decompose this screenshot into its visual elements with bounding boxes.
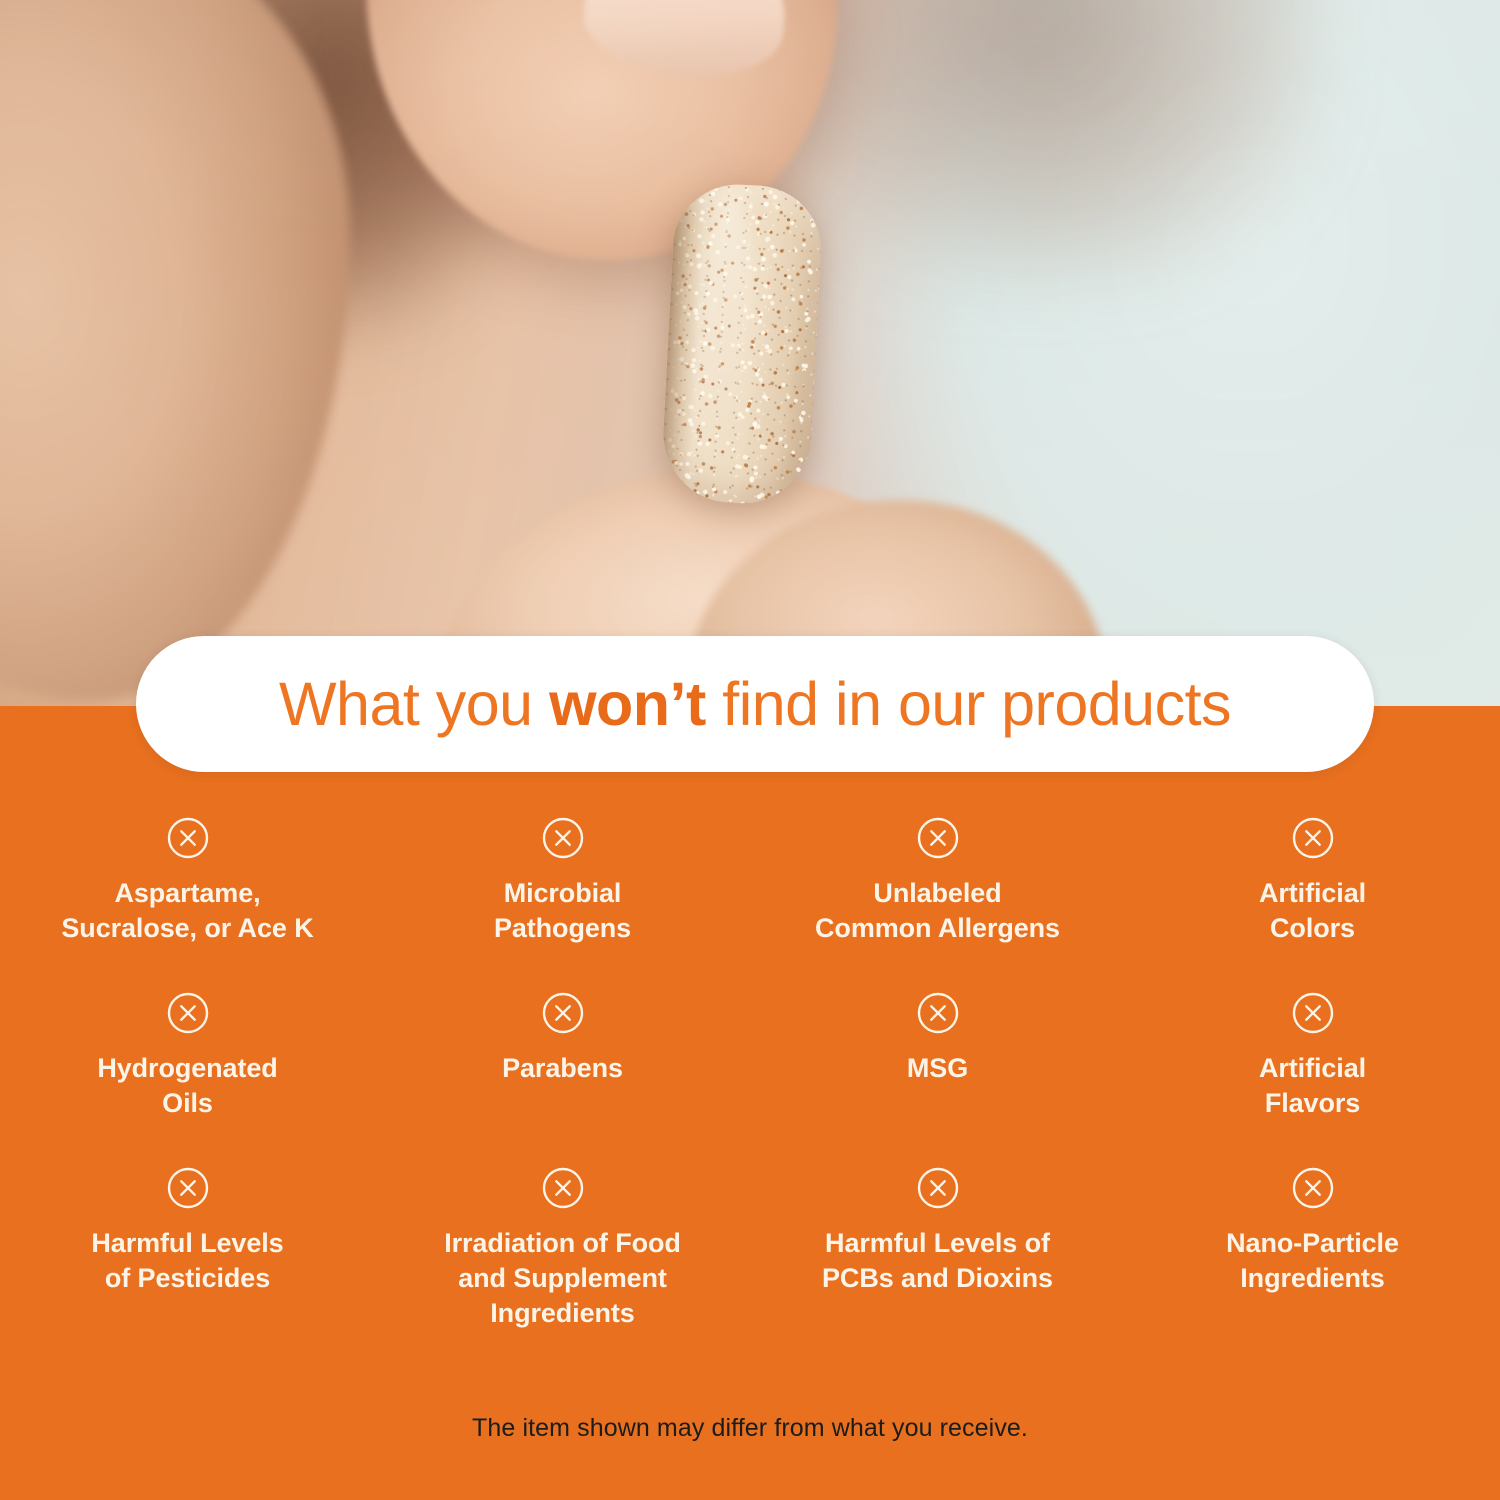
claim-item: Unlabeled Common Allergens	[750, 816, 1125, 991]
x-circle-icon	[916, 991, 960, 1035]
x-circle-icon	[541, 991, 585, 1035]
claim-item: MSG	[750, 991, 1125, 1166]
x-circle-icon	[1291, 1166, 1335, 1210]
claim-item: Harmful Levels of Pesticides	[0, 1166, 375, 1341]
product-photo	[0, 0, 1500, 706]
claim-label: Microbial Pathogens	[494, 876, 631, 946]
title-prefix: What you	[279, 670, 549, 738]
x-circle-icon	[1291, 991, 1335, 1035]
x-circle-icon	[916, 816, 960, 860]
page-title: What you won’t find in our products	[279, 674, 1231, 735]
claim-label: Harmful Levels of PCBs and Dioxins	[822, 1226, 1053, 1296]
claim-item: Parabens	[375, 991, 750, 1166]
x-circle-icon	[166, 816, 210, 860]
claim-item: Microbial Pathogens	[375, 816, 750, 991]
claim-item: Artificial Flavors	[1125, 991, 1500, 1166]
claim-label: Harmful Levels of Pesticides	[91, 1226, 283, 1296]
claim-label: Parabens	[502, 1051, 623, 1086]
claim-label: Unlabeled Common Allergens	[815, 876, 1060, 946]
claim-item: Artificial Colors	[1125, 816, 1500, 991]
claim-label: Irradiation of Food and Supplement Ingre…	[444, 1226, 681, 1331]
claim-item: Hydrogenated Oils	[0, 991, 375, 1166]
claim-label: Artificial Colors	[1259, 876, 1366, 946]
claim-label: Artificial Flavors	[1259, 1051, 1366, 1121]
disclaimer-text: The item shown may differ from what you …	[0, 1414, 1500, 1443]
claims-panel: Aspartame, Sucralose, or Ace K Microbial…	[0, 706, 1500, 1500]
x-circle-icon	[916, 1166, 960, 1210]
claim-label: Aspartame, Sucralose, or Ace K	[61, 876, 313, 946]
claim-label: MSG	[907, 1051, 968, 1086]
title-card: What you won’t find in our products	[136, 636, 1374, 772]
x-circle-icon	[166, 991, 210, 1035]
title-emphasis: won’t	[549, 670, 706, 738]
x-circle-icon	[541, 1166, 585, 1210]
title-suffix: find in our products	[706, 670, 1231, 738]
x-circle-icon	[1291, 816, 1335, 860]
claim-label: Nano-Particle Ingredients	[1226, 1226, 1399, 1296]
claims-grid: Aspartame, Sucralose, or Ace K Microbial…	[0, 816, 1500, 1341]
promo-graphic: Aspartame, Sucralose, or Ace K Microbial…	[0, 0, 1500, 1500]
claim-item: Harmful Levels of PCBs and Dioxins	[750, 1166, 1125, 1341]
photo-blur-shadow-mid	[760, 0, 1320, 280]
claim-label: Hydrogenated Oils	[97, 1051, 277, 1121]
x-circle-icon	[541, 816, 585, 860]
claim-item: Nano-Particle Ingredients	[1125, 1166, 1500, 1341]
claim-item: Irradiation of Food and Supplement Ingre…	[375, 1166, 750, 1341]
claim-item: Aspartame, Sucralose, or Ace K	[0, 816, 375, 991]
x-circle-icon	[166, 1166, 210, 1210]
supplement-tablet	[660, 181, 824, 506]
